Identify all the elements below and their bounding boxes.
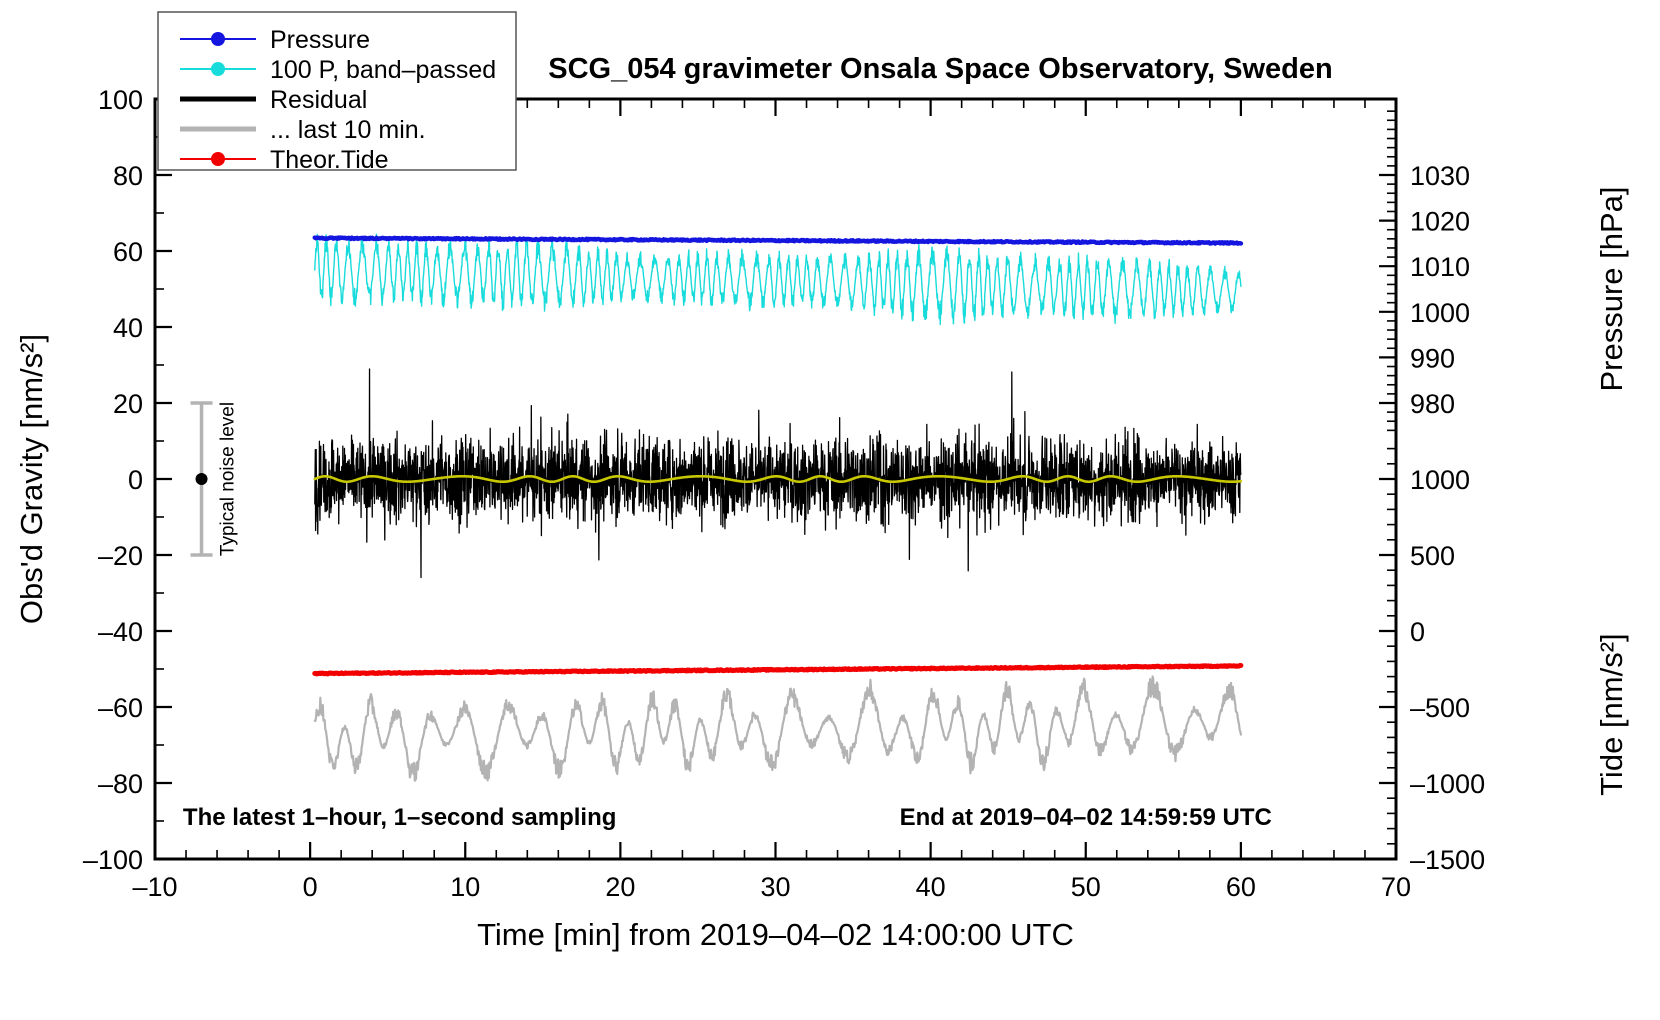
- y-tick-label: 80: [113, 161, 143, 191]
- y-tick-label: –80: [98, 769, 143, 799]
- legend-label: ... last 10 min.: [270, 116, 426, 144]
- noise-center-dot: [196, 473, 208, 485]
- pressure-tick-label: 1030: [1410, 161, 1470, 191]
- tide-tick-label: –1000: [1410, 769, 1485, 799]
- noise-marker-label: Typical noise level: [218, 402, 239, 556]
- legend-label: Residual: [270, 86, 367, 114]
- end-time-note: End at 2019–04–02 14:59:59 UTC: [900, 804, 1272, 831]
- y-tick-label: 0: [128, 465, 143, 495]
- legend-label: 100 P, band–passed: [270, 56, 496, 84]
- chart-legend: Pressure100 P, band–passedResidual... la…: [158, 12, 516, 174]
- chart-page: –10010203040506070Time [min] from 2019–0…: [0, 0, 1660, 1020]
- tide-tick-label: –500: [1410, 693, 1470, 723]
- pressure-tick-label: 990: [1410, 343, 1455, 373]
- x-tick-label: 70: [1381, 872, 1411, 902]
- x-tick-label: 30: [760, 872, 790, 902]
- y-tick-label: –40: [98, 617, 143, 647]
- tide-tick-label: 1000: [1410, 465, 1470, 495]
- y-axis-title: Obs'd Gravity [nm/s²]: [14, 334, 49, 624]
- x-tick-label: 0: [303, 872, 318, 902]
- pressure-tick-label: 980: [1410, 389, 1455, 419]
- legend-label: Pressure: [270, 26, 370, 54]
- legend-swatch-marker: [211, 152, 225, 166]
- gravimeter-chart: –10010203040506070Time [min] from 2019–0…: [0, 0, 1660, 1020]
- tide-axis-title: Tide [nm/s²]: [1594, 633, 1629, 796]
- y-tick-label: 20: [113, 389, 143, 419]
- pressure-tick-label: 1020: [1410, 207, 1470, 237]
- pressure-tick-label: 1010: [1410, 252, 1470, 282]
- legend-swatch-marker: [211, 32, 225, 46]
- x-tick-label: 20: [605, 872, 635, 902]
- x-tick-label: 10: [450, 872, 480, 902]
- tide-tick-label: –1500: [1410, 845, 1485, 875]
- legend-swatch-marker: [211, 62, 225, 76]
- y-tick-label: –60: [98, 693, 143, 723]
- tide-tick-label: 500: [1410, 541, 1455, 571]
- y-tick-label: 60: [113, 237, 143, 267]
- x-tick-label: 50: [1071, 872, 1101, 902]
- x-tick-label: –10: [132, 872, 177, 902]
- pressure-tick-label: 1000: [1410, 298, 1470, 328]
- y-tick-label: 40: [113, 313, 143, 343]
- x-tick-label: 60: [1226, 872, 1256, 902]
- chart-title: SCG_054 gravimeter Onsala Space Observat…: [548, 53, 1332, 85]
- x-axis-title: Time [min] from 2019–04–02 14:00:00 UTC: [477, 917, 1074, 952]
- x-tick-label: 40: [916, 872, 946, 902]
- pressure-axis-title: Pressure [hPa]: [1594, 186, 1629, 391]
- y-tick-label: –100: [83, 845, 143, 875]
- legend-label: Theor.Tide: [270, 146, 389, 174]
- sampling-note: The latest 1–hour, 1–second sampling: [183, 804, 616, 831]
- y-tick-label: –20: [98, 541, 143, 571]
- tide-tick-label: 0: [1410, 617, 1425, 647]
- y-tick-label: 100: [98, 85, 143, 115]
